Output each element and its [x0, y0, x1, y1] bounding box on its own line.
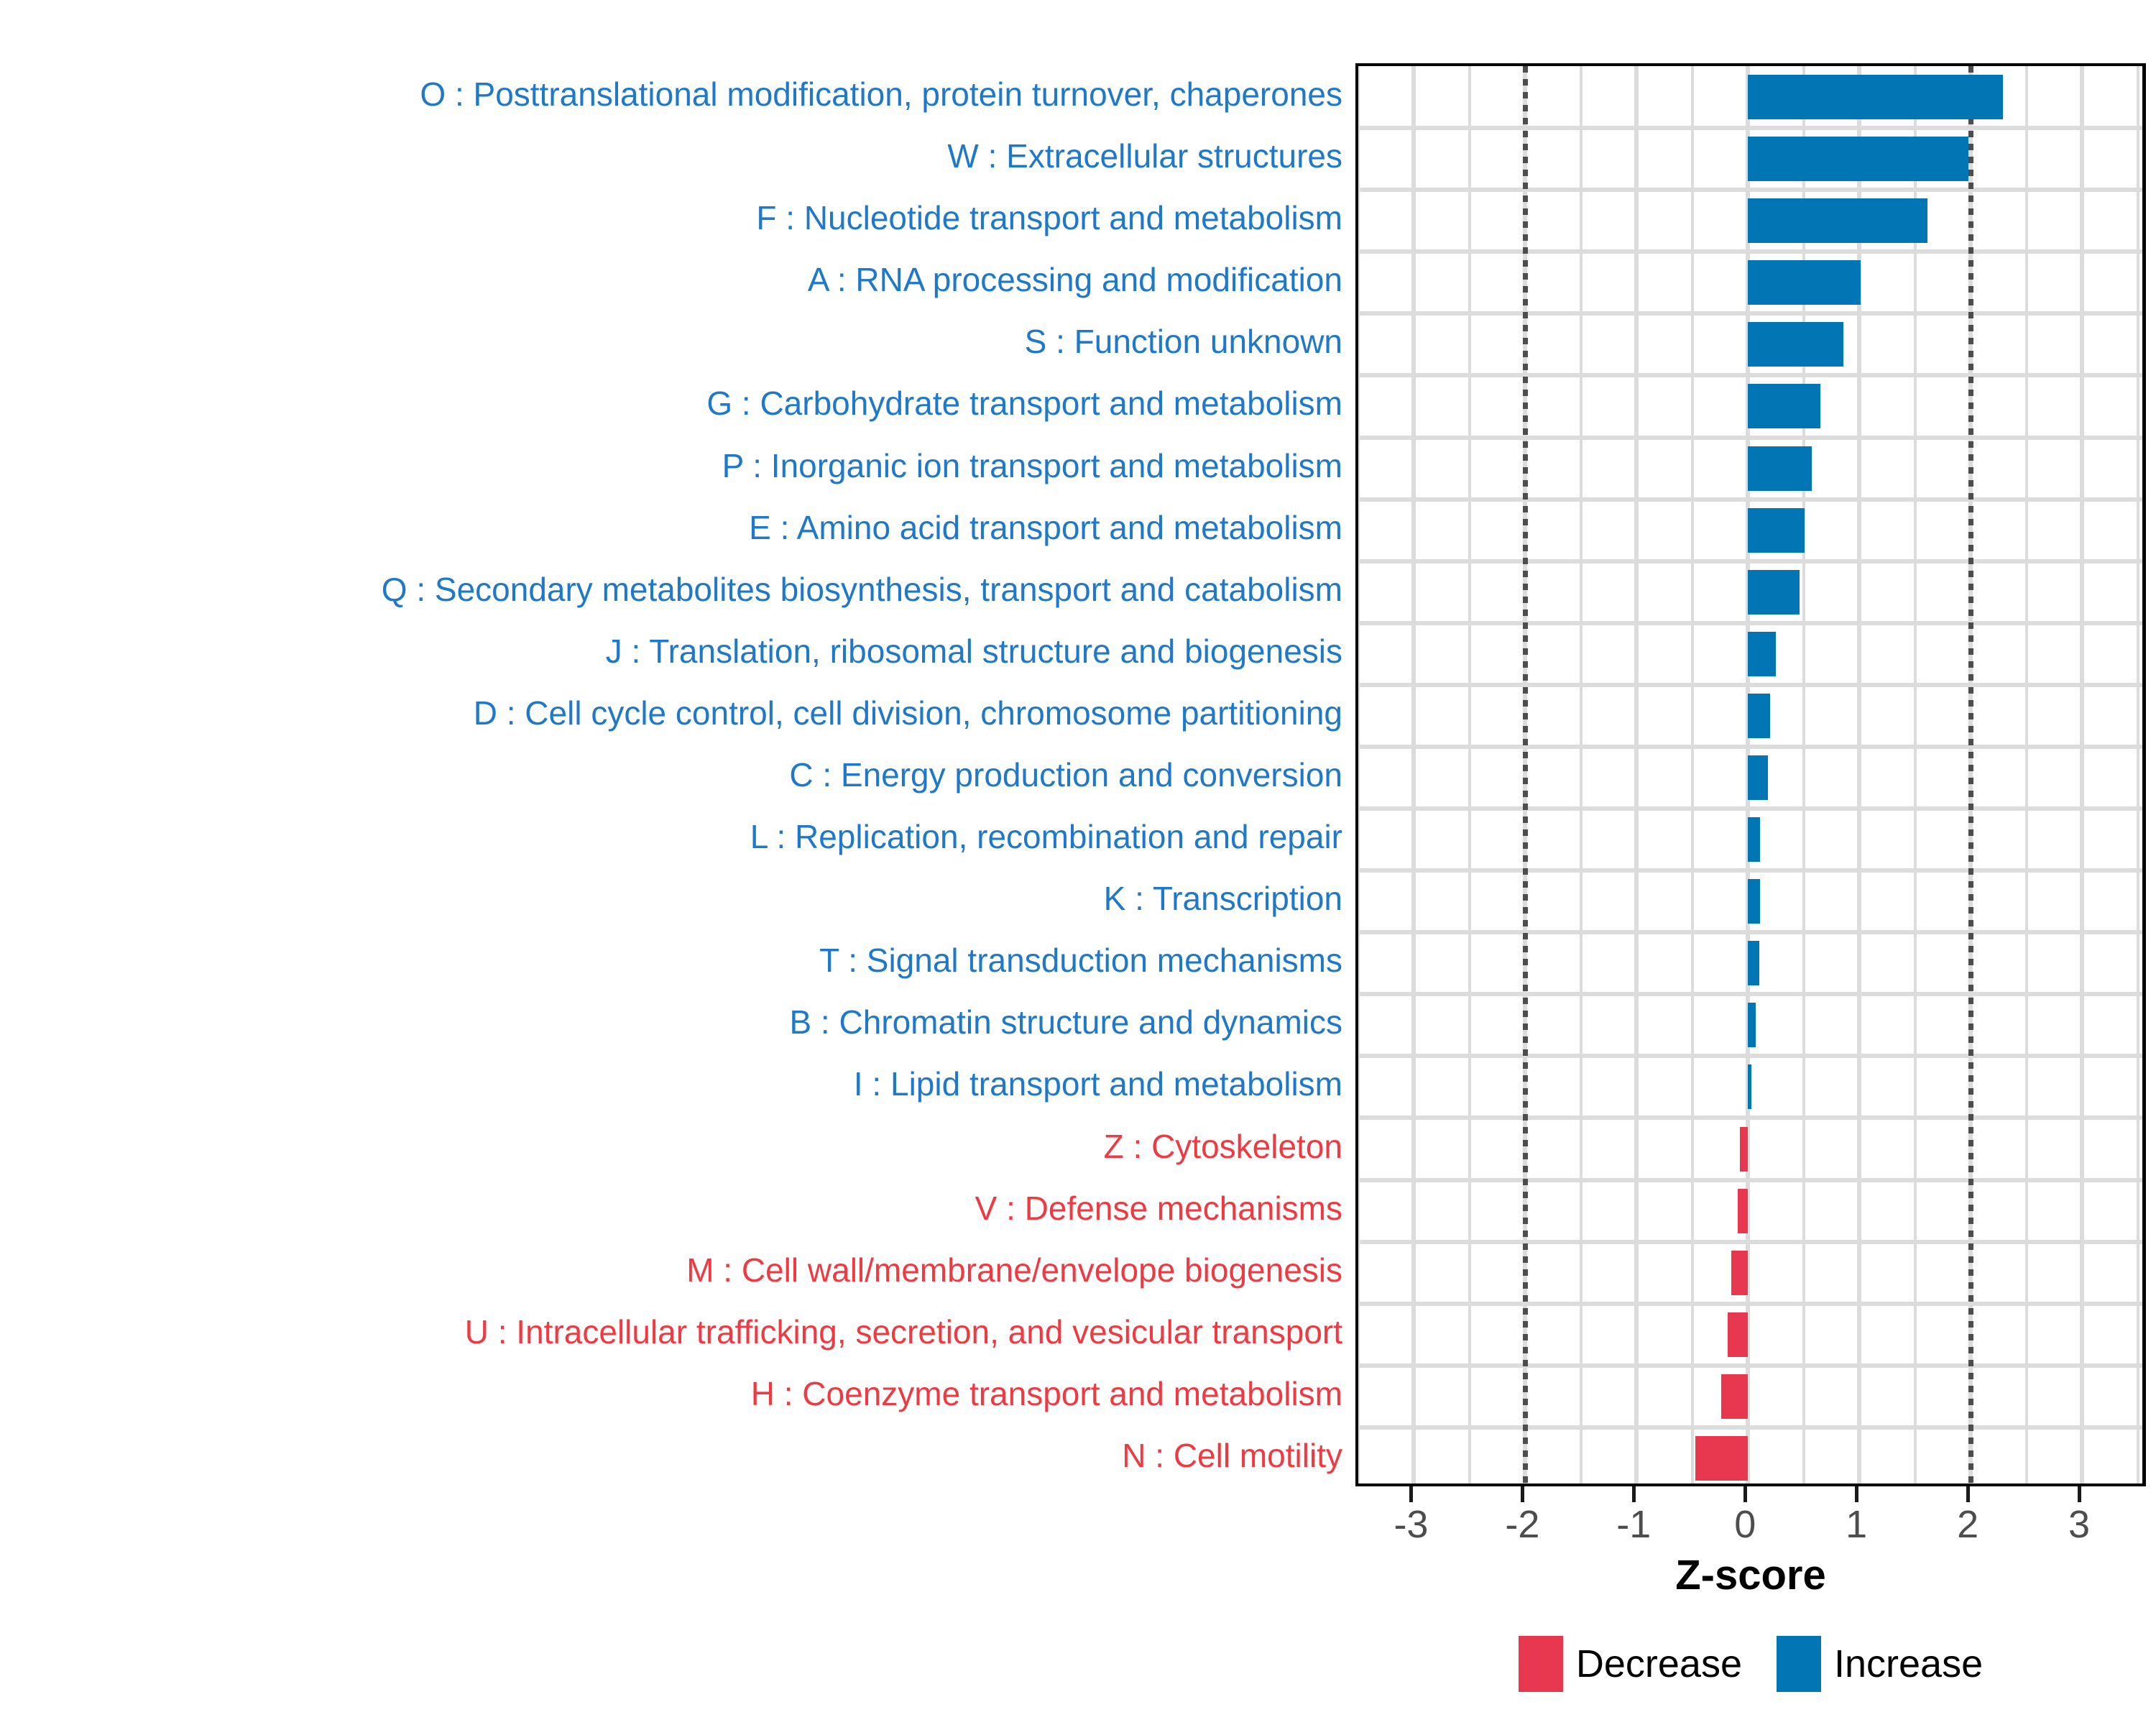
x-tick-mark [2078, 1486, 2081, 1502]
legend-swatch [1777, 1636, 1821, 1692]
bar[interactable] [1748, 322, 1843, 367]
x-tick-label: 3 [2036, 1502, 2122, 1547]
bar[interactable] [1740, 1127, 1748, 1172]
vertical-gridline-minor [1914, 66, 1917, 1483]
x-tick-mark [1966, 1486, 1970, 1502]
x-tick-label: -1 [1590, 1502, 1677, 1547]
bar[interactable] [1748, 817, 1760, 862]
category-label: M : Cell wall/membrane/envelope biogenes… [686, 1239, 1342, 1301]
bar[interactable] [1748, 1003, 1756, 1047]
vertical-gridline-minor [1357, 66, 1360, 1483]
category-label-column: O : Posttranslational modification, prot… [0, 63, 1355, 1486]
bar[interactable] [1748, 632, 1776, 676]
legend-label: Decrease [1576, 1642, 1742, 1686]
category-label: T : Signal transduction mechanisms [819, 929, 1342, 991]
vertical-gridline-minor [2137, 66, 2139, 1483]
bar[interactable] [1731, 1251, 1748, 1295]
category-label: D : Cell cycle control, cell division, c… [474, 682, 1342, 744]
category-label: I : Lipid transport and metabolism [854, 1053, 1342, 1115]
category-label: F : Nucleotide transport and metabolism [756, 187, 1342, 249]
bar[interactable] [1748, 1064, 1751, 1109]
bar[interactable] [1748, 75, 2003, 119]
category-label: K : Transcription [1104, 868, 1342, 929]
category-label: W : Extracellular structures [947, 125, 1342, 187]
plot-panel [1355, 63, 2146, 1486]
bar[interactable] [1695, 1436, 1748, 1481]
vertical-gridline-major [1411, 66, 1416, 1483]
bar[interactable] [1748, 260, 1860, 305]
x-tick-label: 0 [1702, 1502, 1788, 1547]
x-tick-mark [1521, 1486, 1524, 1502]
legend-swatch [1519, 1636, 1563, 1692]
category-label: S : Function unknown [1025, 310, 1342, 372]
category-label: O : Posttranslational modification, prot… [420, 63, 1342, 125]
bar[interactable] [1748, 384, 1820, 428]
vertical-gridline-minor [1691, 66, 1694, 1483]
category-label: H : Coenzyme transport and metabolism [751, 1363, 1342, 1425]
reference-line [1523, 66, 1528, 1483]
reference-line [1968, 66, 1973, 1483]
bar[interactable] [1748, 137, 1968, 181]
x-tick-mark [1743, 1486, 1747, 1502]
vertical-gridline-major [2080, 66, 2084, 1483]
category-label: C : Energy production and conversion [789, 744, 1342, 806]
legend-item[interactable]: Decrease [1519, 1636, 1742, 1692]
vertical-gridline-minor [1580, 66, 1583, 1483]
bar[interactable] [1748, 508, 1805, 553]
bar[interactable] [1748, 446, 1811, 491]
chart-legend: DecreaseIncrease [1355, 1632, 2146, 1696]
x-tick-label: 2 [1925, 1502, 2011, 1547]
bar[interactable] [1738, 1189, 1748, 1233]
category-label: N : Cell motility [1122, 1425, 1342, 1486]
bar[interactable] [1748, 570, 1799, 615]
category-label: B : Chromatin structure and dynamics [789, 991, 1342, 1053]
x-tick-label: -2 [1479, 1502, 1565, 1547]
x-axis-title: Z-score [1355, 1551, 2146, 1599]
category-label: V : Defense mechanisms [975, 1177, 1342, 1239]
bar[interactable] [1748, 198, 1927, 243]
bar[interactable] [1721, 1374, 1748, 1419]
bar[interactable] [1748, 941, 1759, 985]
x-tick-mark [1855, 1486, 1858, 1502]
x-axis-tick-labels: -3-2-10123 [1355, 1502, 2146, 1552]
category-label: A : RNA processing and modification [808, 249, 1342, 310]
x-tick-label: -3 [1368, 1502, 1454, 1547]
category-label: P : Inorganic ion transport and metaboli… [722, 435, 1342, 497]
category-label: G : Carbohydrate transport and metabolis… [706, 372, 1342, 434]
x-tick-label: 1 [1813, 1502, 1899, 1547]
bar[interactable] [1728, 1312, 1748, 1357]
bar[interactable] [1748, 694, 1770, 738]
category-label: U : Intracellular trafficking, secretion… [465, 1301, 1342, 1363]
category-label: E : Amino acid transport and metabolism [749, 497, 1342, 558]
vertical-gridline-minor [2025, 66, 2028, 1483]
x-tick-mark [1632, 1486, 1636, 1502]
bar[interactable] [1748, 879, 1760, 924]
bar[interactable] [1748, 755, 1768, 800]
legend-label: Increase [1834, 1642, 1983, 1686]
category-label: Q : Secondary metabolites biosynthesis, … [382, 558, 1342, 620]
legend-item[interactable]: Increase [1777, 1636, 1983, 1692]
category-label: L : Replication, recombination and repai… [750, 806, 1342, 868]
x-tick-mark [1409, 1486, 1413, 1502]
category-label: Z : Cytoskeleton [1104, 1115, 1342, 1177]
vertical-gridline-minor [1468, 66, 1471, 1483]
chart-root: O : Posttranslational modification, prot… [0, 0, 2156, 1725]
vertical-gridline-major [1634, 66, 1639, 1483]
category-label: J : Translation, ribosomal structure and… [606, 620, 1342, 682]
